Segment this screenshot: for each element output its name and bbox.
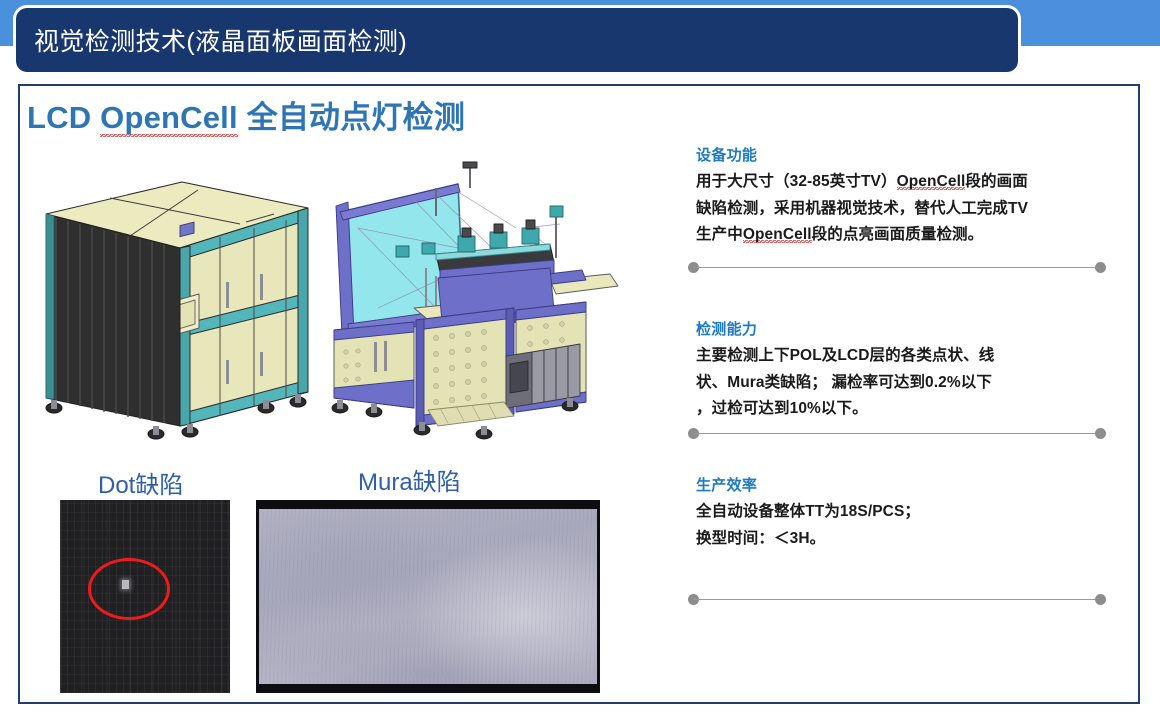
divider-dot-right <box>1095 594 1106 605</box>
info-body: 用于大尺寸（32-85英寸TV）OpenCell段的画面 缺陷检测，采用机器视觉… <box>696 169 1118 249</box>
opencell-lighting-test-station-illustration <box>318 158 620 440</box>
info-line: 缺陷检测，采用机器视觉技术，替代人工完成TV <box>696 196 1118 223</box>
section-divider <box>688 428 1106 439</box>
info-body: 全自动设备整体TT为18S/PCS； 换型时间：＜3H。 <box>696 499 1118 552</box>
mura-defect-sample-image <box>256 500 600 693</box>
slide-heading: LCD OpenCell 全自动点灯检测 <box>27 92 465 137</box>
info-line: ，过检可达到10%以下。 <box>696 396 1118 423</box>
slide-heading-suffix: 全自动点灯检测 <box>238 100 465 135</box>
section-divider <box>688 594 1106 605</box>
info-block-inspection-capability: 检测能力 主要检测上下POL及LCD层的各类点状、线 状、Mura类缺陷； 漏检… <box>688 318 1118 423</box>
info-line: 主要检测上下POL及LCD层的各类点状、线 <box>696 343 1118 370</box>
info-line: 换型时间：＜3H。 <box>696 526 1118 553</box>
divider-line <box>693 433 1101 434</box>
divider-line <box>693 267 1101 268</box>
info-block-equipment-function: 设备功能 用于大尺寸（32-85英寸TV）OpenCell段的画面 缺陷检测，采… <box>688 144 1118 249</box>
slide-heading-prefix: LCD <box>27 100 100 135</box>
caption-dot-defect: Dot缺陷 <box>98 465 183 500</box>
title-bar: 视觉检测技术(液晶面板画面检测) <box>16 8 1018 72</box>
info-line: 全自动设备整体TT为18S/PCS； <box>696 499 1118 526</box>
info-line: 用于大尺寸（32-85英寸TV）OpenCell段的画面 <box>696 169 1118 196</box>
divider-dot-right <box>1095 428 1106 439</box>
info-title: 检测能力 <box>696 318 1118 339</box>
slide-heading-product: OpenCell <box>100 100 238 137</box>
section-divider <box>688 262 1106 273</box>
info-title: 设备功能 <box>696 144 1118 165</box>
caption-mura-defect: Mura缺陷 <box>358 462 461 497</box>
dark-room-inspection-booth-illustration <box>30 162 322 440</box>
info-block-production-efficiency: 生产效率 全自动设备整体TT为18S/PCS； 换型时间：＜3H。 <box>688 474 1118 552</box>
info-body: 主要检测上下POL及LCD层的各类点状、线 状、Mura类缺陷； 漏检率可达到0… <box>696 343 1118 423</box>
divider-dot-right <box>1095 262 1106 273</box>
dot-defect-sample-image <box>60 500 230 693</box>
info-title: 生产效率 <box>696 474 1118 495</box>
info-line: 状、Mura类缺陷； 漏检率可达到0.2%以下 <box>696 370 1118 397</box>
divider-line <box>693 599 1101 600</box>
info-line: 生产中OpenCell段的点亮画面质量检测。 <box>696 222 1118 249</box>
page-title: 视觉检测技术(液晶面板画面检测) <box>16 22 407 58</box>
red-ellipse-annotation-icon <box>88 558 170 620</box>
mura-panel-surface <box>259 509 597 684</box>
